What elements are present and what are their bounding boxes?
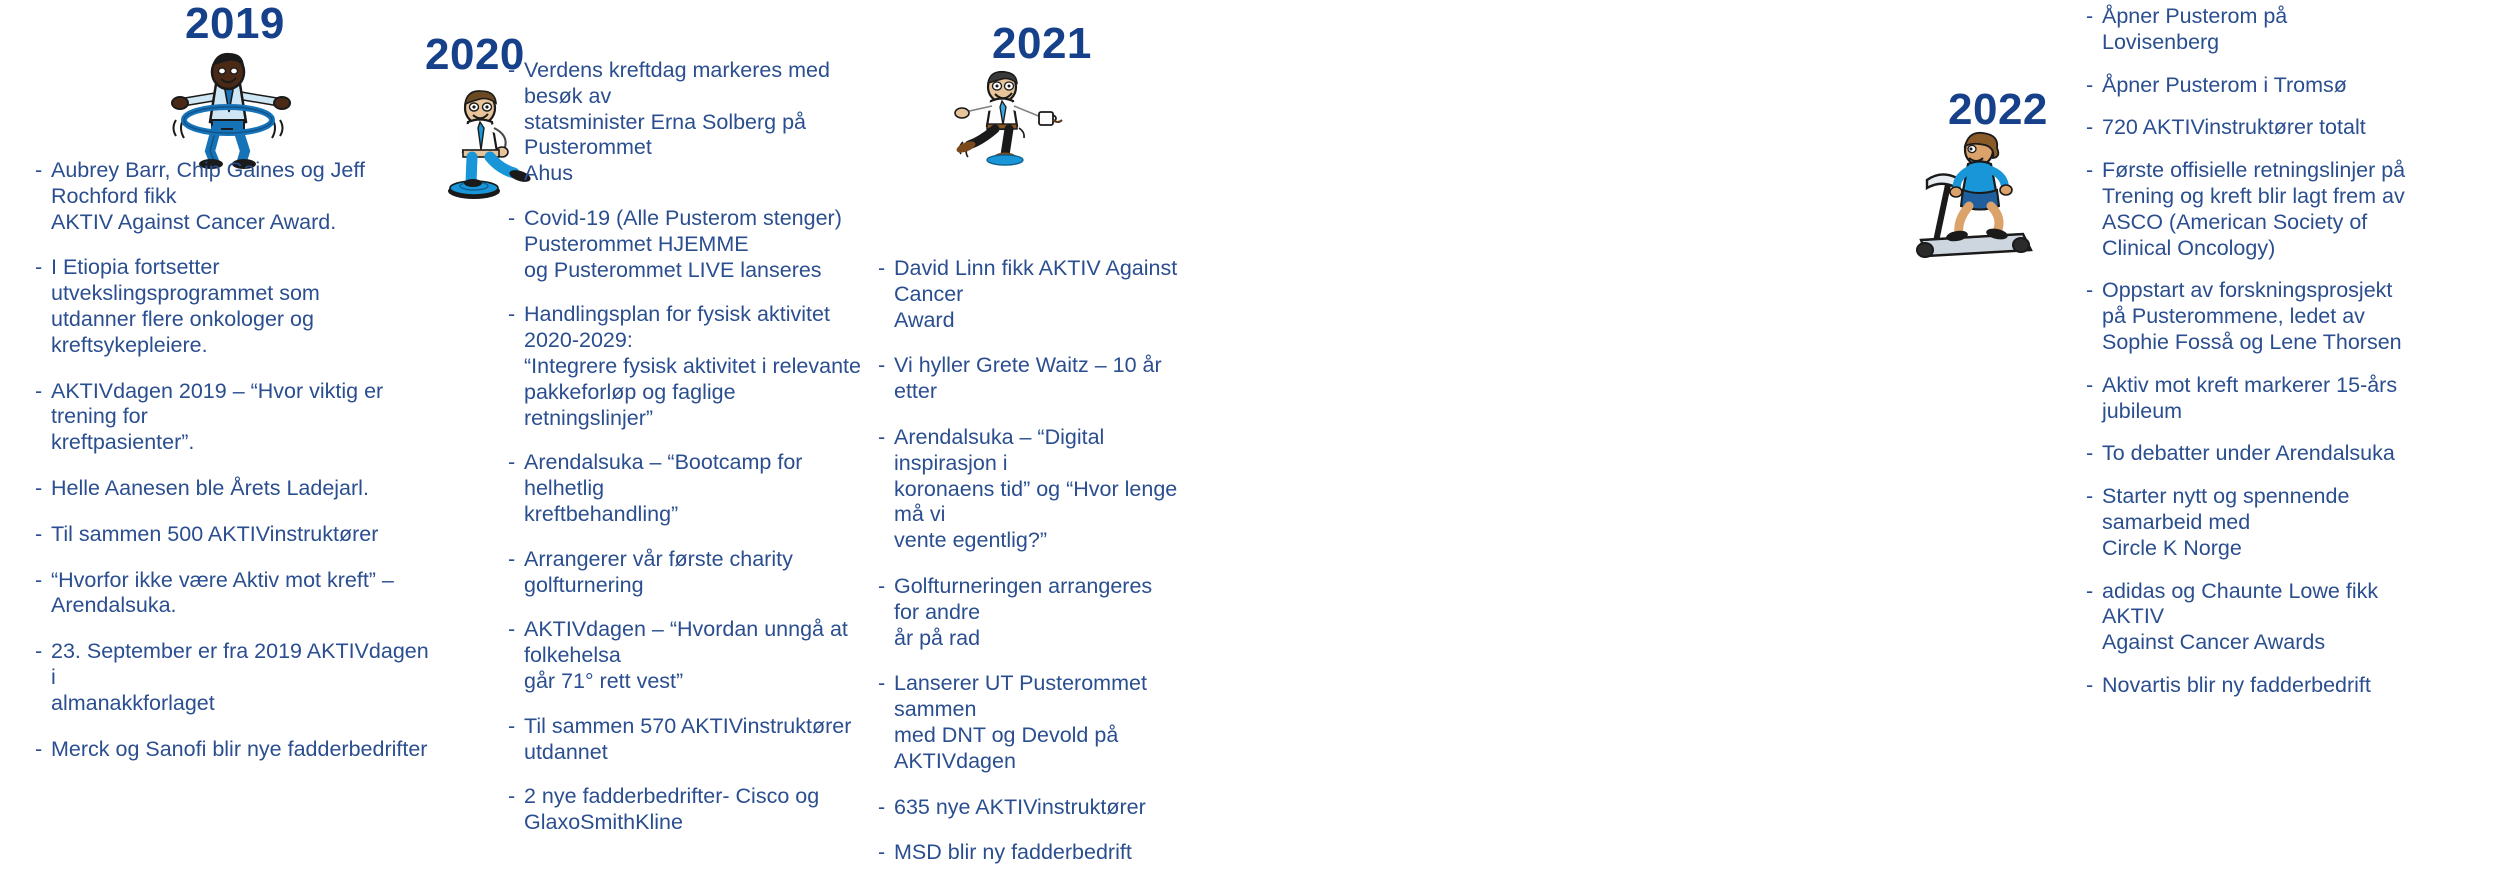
bullet-marker: -: [878, 795, 894, 821]
bullet-item: -Helle Aanesen ble Årets Ladejarl.: [35, 476, 435, 502]
bullet-marker: -: [35, 476, 51, 502]
bullet-item: -635 nye AKTIVinstruktører: [878, 795, 1178, 821]
bullet-marker: -: [2086, 73, 2102, 99]
bullet-item: -Åpner Pusterom på Lovisenberg: [2086, 4, 2426, 56]
bullet-marker: -: [508, 617, 524, 643]
bullet-marker: -: [508, 547, 524, 573]
bullet-item: -Oppstart av forskningsprosjekt på Puste…: [2086, 278, 2426, 355]
timeline-infographic: 2019: [0, 0, 2500, 800]
bullet-item: -Aktiv mot kreft markerer 15-års jubileu…: [2086, 373, 2426, 425]
bullet-text: 635 nye AKTIVinstruktører: [894, 795, 1178, 821]
bullet-item: -Til sammen 500 AKTIVinstruktører: [35, 522, 435, 548]
bullet-item: -2 nye fadderbedrifter- Cisco og GlaxoSm…: [508, 784, 868, 836]
bullet-text: AKTIVdagen 2019 – “Hvor viktig er trenin…: [51, 379, 435, 456]
bullet-item: -MSD blir ny fadderbedrift: [878, 840, 1178, 866]
bullet-marker: -: [2086, 579, 2102, 605]
bullet-marker: -: [508, 206, 524, 232]
bullet-text: Handlingsplan for fysisk aktivitet 2020-…: [524, 302, 868, 431]
bullet-marker: -: [878, 256, 894, 282]
bullet-marker: -: [878, 840, 894, 866]
bullet-text: Aubrey Barr, Chip Gaines og Jeff Rochfor…: [51, 158, 435, 235]
bullet-item: -AKTIVdagen 2019 – “Hvor viktig er treni…: [35, 379, 435, 456]
bullet-item: -23. September er fra 2019 AKTIVdagen i …: [35, 639, 435, 716]
bullet-marker: -: [2086, 158, 2102, 184]
bullet-list-2020: -Verdens kreftdag markeres med besøk av …: [508, 58, 868, 855]
bullet-text: Arendalsuka – “Bootcamp for helhetlig kr…: [524, 450, 868, 527]
bullet-marker: -: [878, 574, 894, 600]
balancing-person-with-cup-illustration: [955, 70, 1080, 165]
bullet-item: -Lanserer UT Pusterommet sammen med DNT …: [878, 671, 1178, 774]
bullet-marker: -: [508, 302, 524, 328]
bullet-marker: -: [35, 379, 51, 405]
bullet-text: Åpner Pusterom på Lovisenberg: [2102, 4, 2426, 56]
bullet-text: Arrangerer vår første charity golfturner…: [524, 547, 868, 599]
treadmill-runner-illustration: [1905, 128, 2095, 263]
bullet-marker: -: [35, 737, 51, 763]
bullet-marker: -: [35, 158, 51, 184]
year-heading-2022: 2022: [1948, 88, 2048, 132]
bullet-item: -Golfturneringen arrangeres for andre år…: [878, 574, 1178, 651]
bullet-marker: -: [2086, 484, 2102, 510]
bullet-marker: -: [508, 450, 524, 476]
bullet-marker: -: [2086, 278, 2102, 304]
bullet-item: -720 AKTIVinstruktører totalt: [2086, 115, 2426, 141]
bullet-text: I Etiopia fortsetter utvekslingsprogramm…: [51, 255, 435, 358]
bullet-text: Til sammen 500 AKTIVinstruktører: [51, 522, 435, 548]
bullet-marker: -: [878, 671, 894, 697]
bullet-marker: -: [35, 568, 51, 594]
bullet-item: -Arendalsuka – “Bootcamp for helhetlig k…: [508, 450, 868, 527]
bullet-text: Åpner Pusterom i Tromsø: [2102, 73, 2426, 99]
bullet-marker: -: [2086, 673, 2102, 699]
bullet-marker: -: [508, 58, 524, 84]
bullet-text: David Linn fikk AKTIV Against Cancer Awa…: [894, 256, 1178, 333]
bullet-list-2021: -David Linn fikk AKTIV Against Cancer Aw…: [878, 256, 1178, 886]
bullet-item: -Arendalsuka – “Digital inspirasjon i ko…: [878, 425, 1178, 554]
bullet-marker: -: [2086, 441, 2102, 467]
bullet-item: -Novartis blir ny fadderbedrift: [2086, 673, 2426, 699]
bullet-item: -AKTIVdagen – “Hvordan unngå at folkehel…: [508, 617, 868, 694]
bullet-item: -Handlingsplan for fysisk aktivitet 2020…: [508, 302, 868, 431]
bullet-text: Vi hyller Grete Waitz – 10 år etter: [894, 353, 1178, 405]
bullet-text: Starter nytt og spennende samarbeid med …: [2102, 484, 2426, 561]
bullet-text: 2 nye fadderbedrifter- Cisco og GlaxoSmi…: [524, 784, 868, 836]
bullet-text: Arendalsuka – “Digital inspirasjon i kor…: [894, 425, 1178, 554]
bullet-text: Merck og Sanofi blir nye fadderbedrifter: [51, 737, 435, 763]
bullet-text: Helle Aanesen ble Årets Ladejarl.: [51, 476, 435, 502]
bullet-text: Lanserer UT Pusterommet sammen med DNT o…: [894, 671, 1178, 774]
bullet-marker: -: [2086, 115, 2102, 141]
bullet-item: -“Hvorfor ikke være Aktiv mot kreft” – A…: [35, 568, 435, 620]
bullet-item: -Starter nytt og spennende samarbeid med…: [2086, 484, 2426, 561]
bullet-list-2019: -Aubrey Barr, Chip Gaines og Jeff Rochfo…: [35, 158, 435, 782]
bullet-item: -Til sammen 570 AKTIVinstruktører utdann…: [508, 714, 868, 766]
bullet-list-2022: -Åpner Pusterom på Lovisenberg -Åpner Pu…: [2086, 4, 2426, 716]
bullet-item: -Åpner Pusterom i Tromsø: [2086, 73, 2426, 99]
bullet-item: -I Etiopia fortsetter utvekslingsprogram…: [35, 255, 435, 358]
bullet-marker: -: [2086, 4, 2102, 30]
bullet-text: Første offisielle retningslinjer på Tren…: [2102, 158, 2426, 261]
bullet-text: Golfturneringen arrangeres for andre år …: [894, 574, 1178, 651]
bullet-item: -Covid-19 (Alle Pusterom stenger) Puster…: [508, 206, 868, 283]
bullet-item: -Vi hyller Grete Waitz – 10 år etter: [878, 353, 1178, 405]
bullet-marker: -: [508, 784, 524, 810]
bullet-text: Novartis blir ny fadderbedrift: [2102, 673, 2426, 699]
bullet-item: -To debatter under Arendalsuka: [2086, 441, 2426, 467]
bullet-marker: -: [35, 255, 51, 281]
bullet-marker: -: [35, 639, 51, 665]
bullet-text: “Hvorfor ikke være Aktiv mot kreft” – Ar…: [51, 568, 435, 620]
bullet-text: adidas og Chaunte Lowe fikk AKTIV Agains…: [2102, 579, 2426, 656]
bullet-text: Til sammen 570 AKTIVinstruktører utdanne…: [524, 714, 868, 766]
bullet-text: AKTIVdagen – “Hvordan unngå at folkehels…: [524, 617, 868, 694]
bullet-item: -Arrangerer vår første charity golfturne…: [508, 547, 868, 599]
bullet-marker: -: [878, 425, 894, 451]
bullet-marker: -: [508, 714, 524, 740]
bullet-text: Aktiv mot kreft markerer 15-års jubileum: [2102, 373, 2426, 425]
bullet-marker: -: [878, 353, 894, 379]
bullet-text: Oppstart av forskningsprosjekt på Puster…: [2102, 278, 2426, 355]
year-heading-2021: 2021: [992, 22, 1092, 66]
year-heading-2019: 2019: [185, 2, 285, 46]
bullet-item: -Merck og Sanofi blir nye fadderbedrifte…: [35, 737, 435, 763]
bullet-item: -Verdens kreftdag markeres med besøk av …: [508, 58, 868, 187]
bullet-text: Verdens kreftdag markeres med besøk av s…: [524, 58, 868, 187]
bullet-text: 720 AKTIVinstruktører totalt: [2102, 115, 2426, 141]
bullet-text: To debatter under Arendalsuka: [2102, 441, 2426, 467]
bullet-item: -David Linn fikk AKTIV Against Cancer Aw…: [878, 256, 1178, 333]
bullet-text: 23. September er fra 2019 AKTIVdagen i a…: [51, 639, 435, 716]
hula-hoop-person-illustration: [158, 50, 298, 170]
bullet-marker: -: [35, 522, 51, 548]
bullet-item: -Aubrey Barr, Chip Gaines og Jeff Rochfo…: [35, 158, 435, 235]
bullet-text: Covid-19 (Alle Pusterom stenger) Pustero…: [524, 206, 868, 283]
bullet-marker: -: [2086, 373, 2102, 399]
bullet-text: MSD blir ny fadderbedrift: [894, 840, 1178, 866]
bullet-item: -Første offisielle retningslinjer på Tre…: [2086, 158, 2426, 261]
bullet-item: -adidas og Chaunte Lowe fikk AKTIV Again…: [2086, 579, 2426, 656]
